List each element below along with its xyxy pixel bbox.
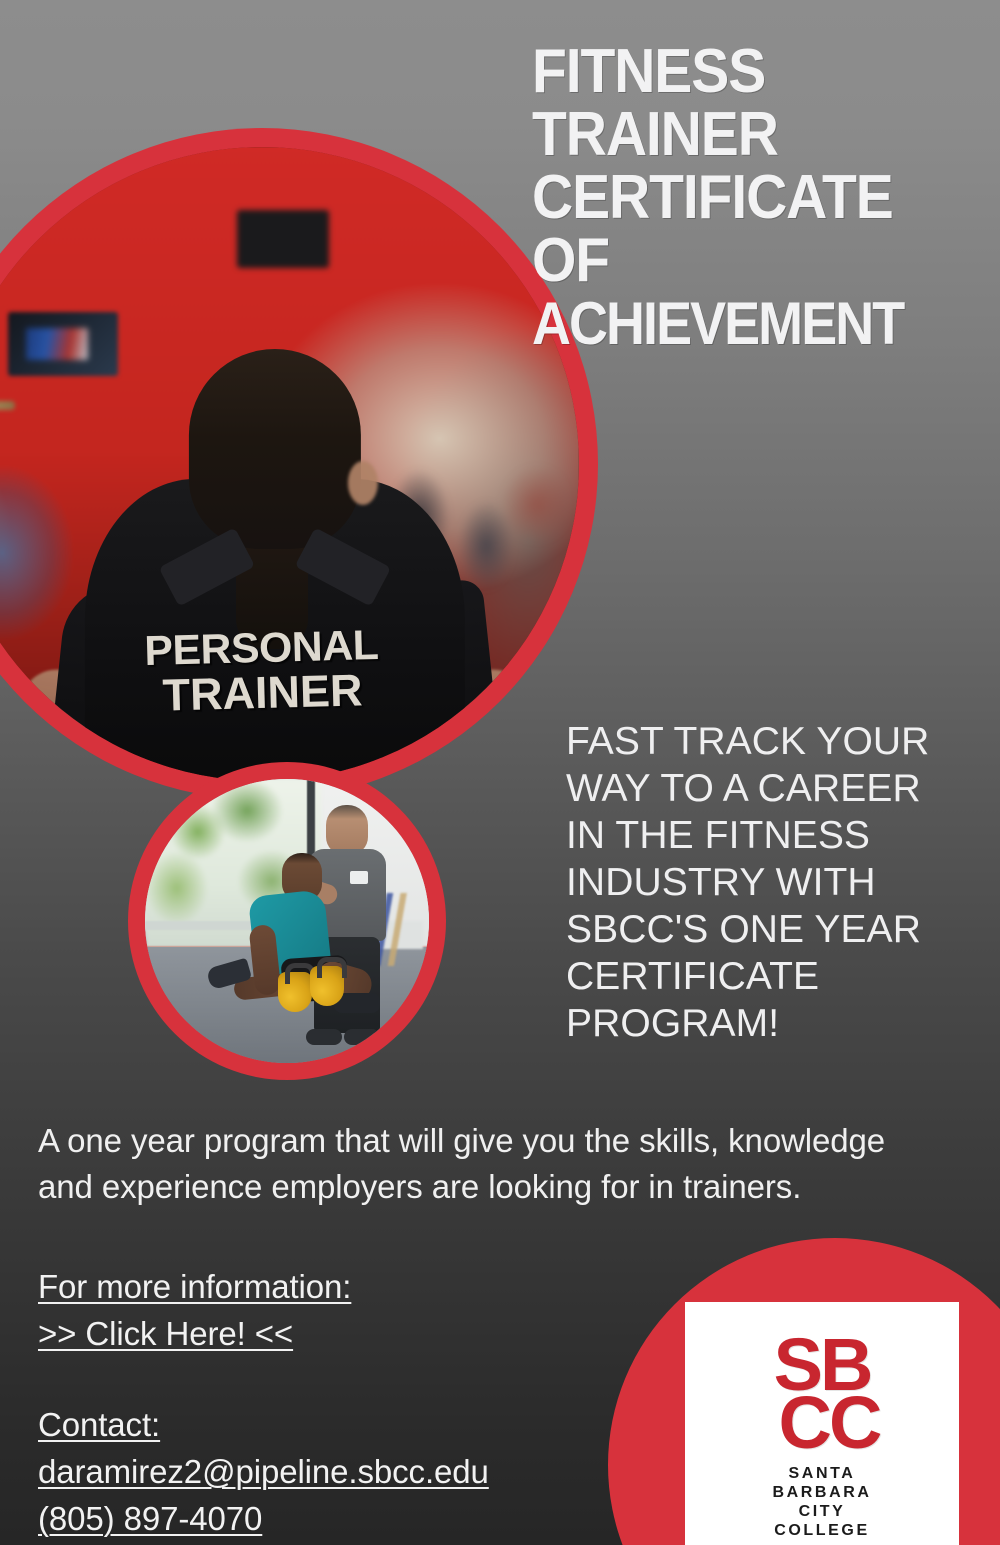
wall-bar-icon (0, 401, 15, 410)
subhead-text: FAST TRACK YOUR WAY TO A CAREER IN THE F… (566, 718, 966, 1047)
personal-trainer-photo: PERSONAL TRAINER (0, 147, 579, 781)
trainer-head (189, 349, 361, 549)
coach-shoe-right (344, 1029, 380, 1045)
poster-canvas: PERSONAL TRAINER (0, 0, 1000, 1545)
click-here-link[interactable]: >> Click Here! << (38, 1310, 578, 1357)
secondary-photo-circle (128, 762, 446, 1080)
trainer-ear (348, 461, 378, 505)
contact-block: For more information: >> Click Here! << … (38, 1263, 578, 1542)
logo-name-line-1: SANTA BARBARA (754, 1464, 891, 1502)
logo-inner: SB CC SANTA BARBARA CITY COLLEGE (754, 1336, 891, 1540)
contact-email-link[interactable]: daramirez2@pipeline.sbcc.edu (38, 1448, 578, 1495)
shirt-text-line-2: TRAINER (147, 666, 378, 720)
shirt-text-line-1: PERSONAL (144, 624, 379, 672)
kettlebell-icon-left (278, 972, 312, 1012)
main-photo-circle: PERSONAL TRAINER (0, 128, 598, 800)
title-line-2: TRAINER (532, 103, 955, 166)
more-information-label[interactable]: For more information: (38, 1263, 578, 1310)
spacer (38, 1357, 578, 1401)
kettlebell-icon-right (310, 966, 344, 1006)
sbcc-logo: SB CC SANTA BARBARA CITY COLLEGE (685, 1302, 959, 1545)
coach-head (326, 805, 368, 855)
logo-mark-cc: CC (768, 1394, 891, 1452)
kettlebell-coaching-photo (145, 779, 429, 1063)
title-line-3: CERTIFICATE (532, 166, 955, 229)
wall-tv-secondary-icon (237, 210, 329, 268)
logo-name-line-2: CITY COLLEGE (754, 1502, 891, 1540)
coach-shoe-left (306, 1029, 342, 1045)
title-line-5: ACHIEVEMENT (532, 292, 946, 355)
body-paragraph: A one year program that will give you th… (38, 1118, 948, 1210)
contact-phone-link[interactable]: (805) 897-4070 (38, 1495, 578, 1542)
page-title: FITNESS TRAINER CERTIFICATE OF ACHIEVEME… (532, 40, 992, 355)
shirt-text: PERSONAL TRAINER (146, 624, 378, 720)
contact-label[interactable]: Contact: (38, 1401, 578, 1448)
title-line-1: FITNESS (532, 40, 955, 103)
title-line-4: OF (532, 229, 955, 292)
